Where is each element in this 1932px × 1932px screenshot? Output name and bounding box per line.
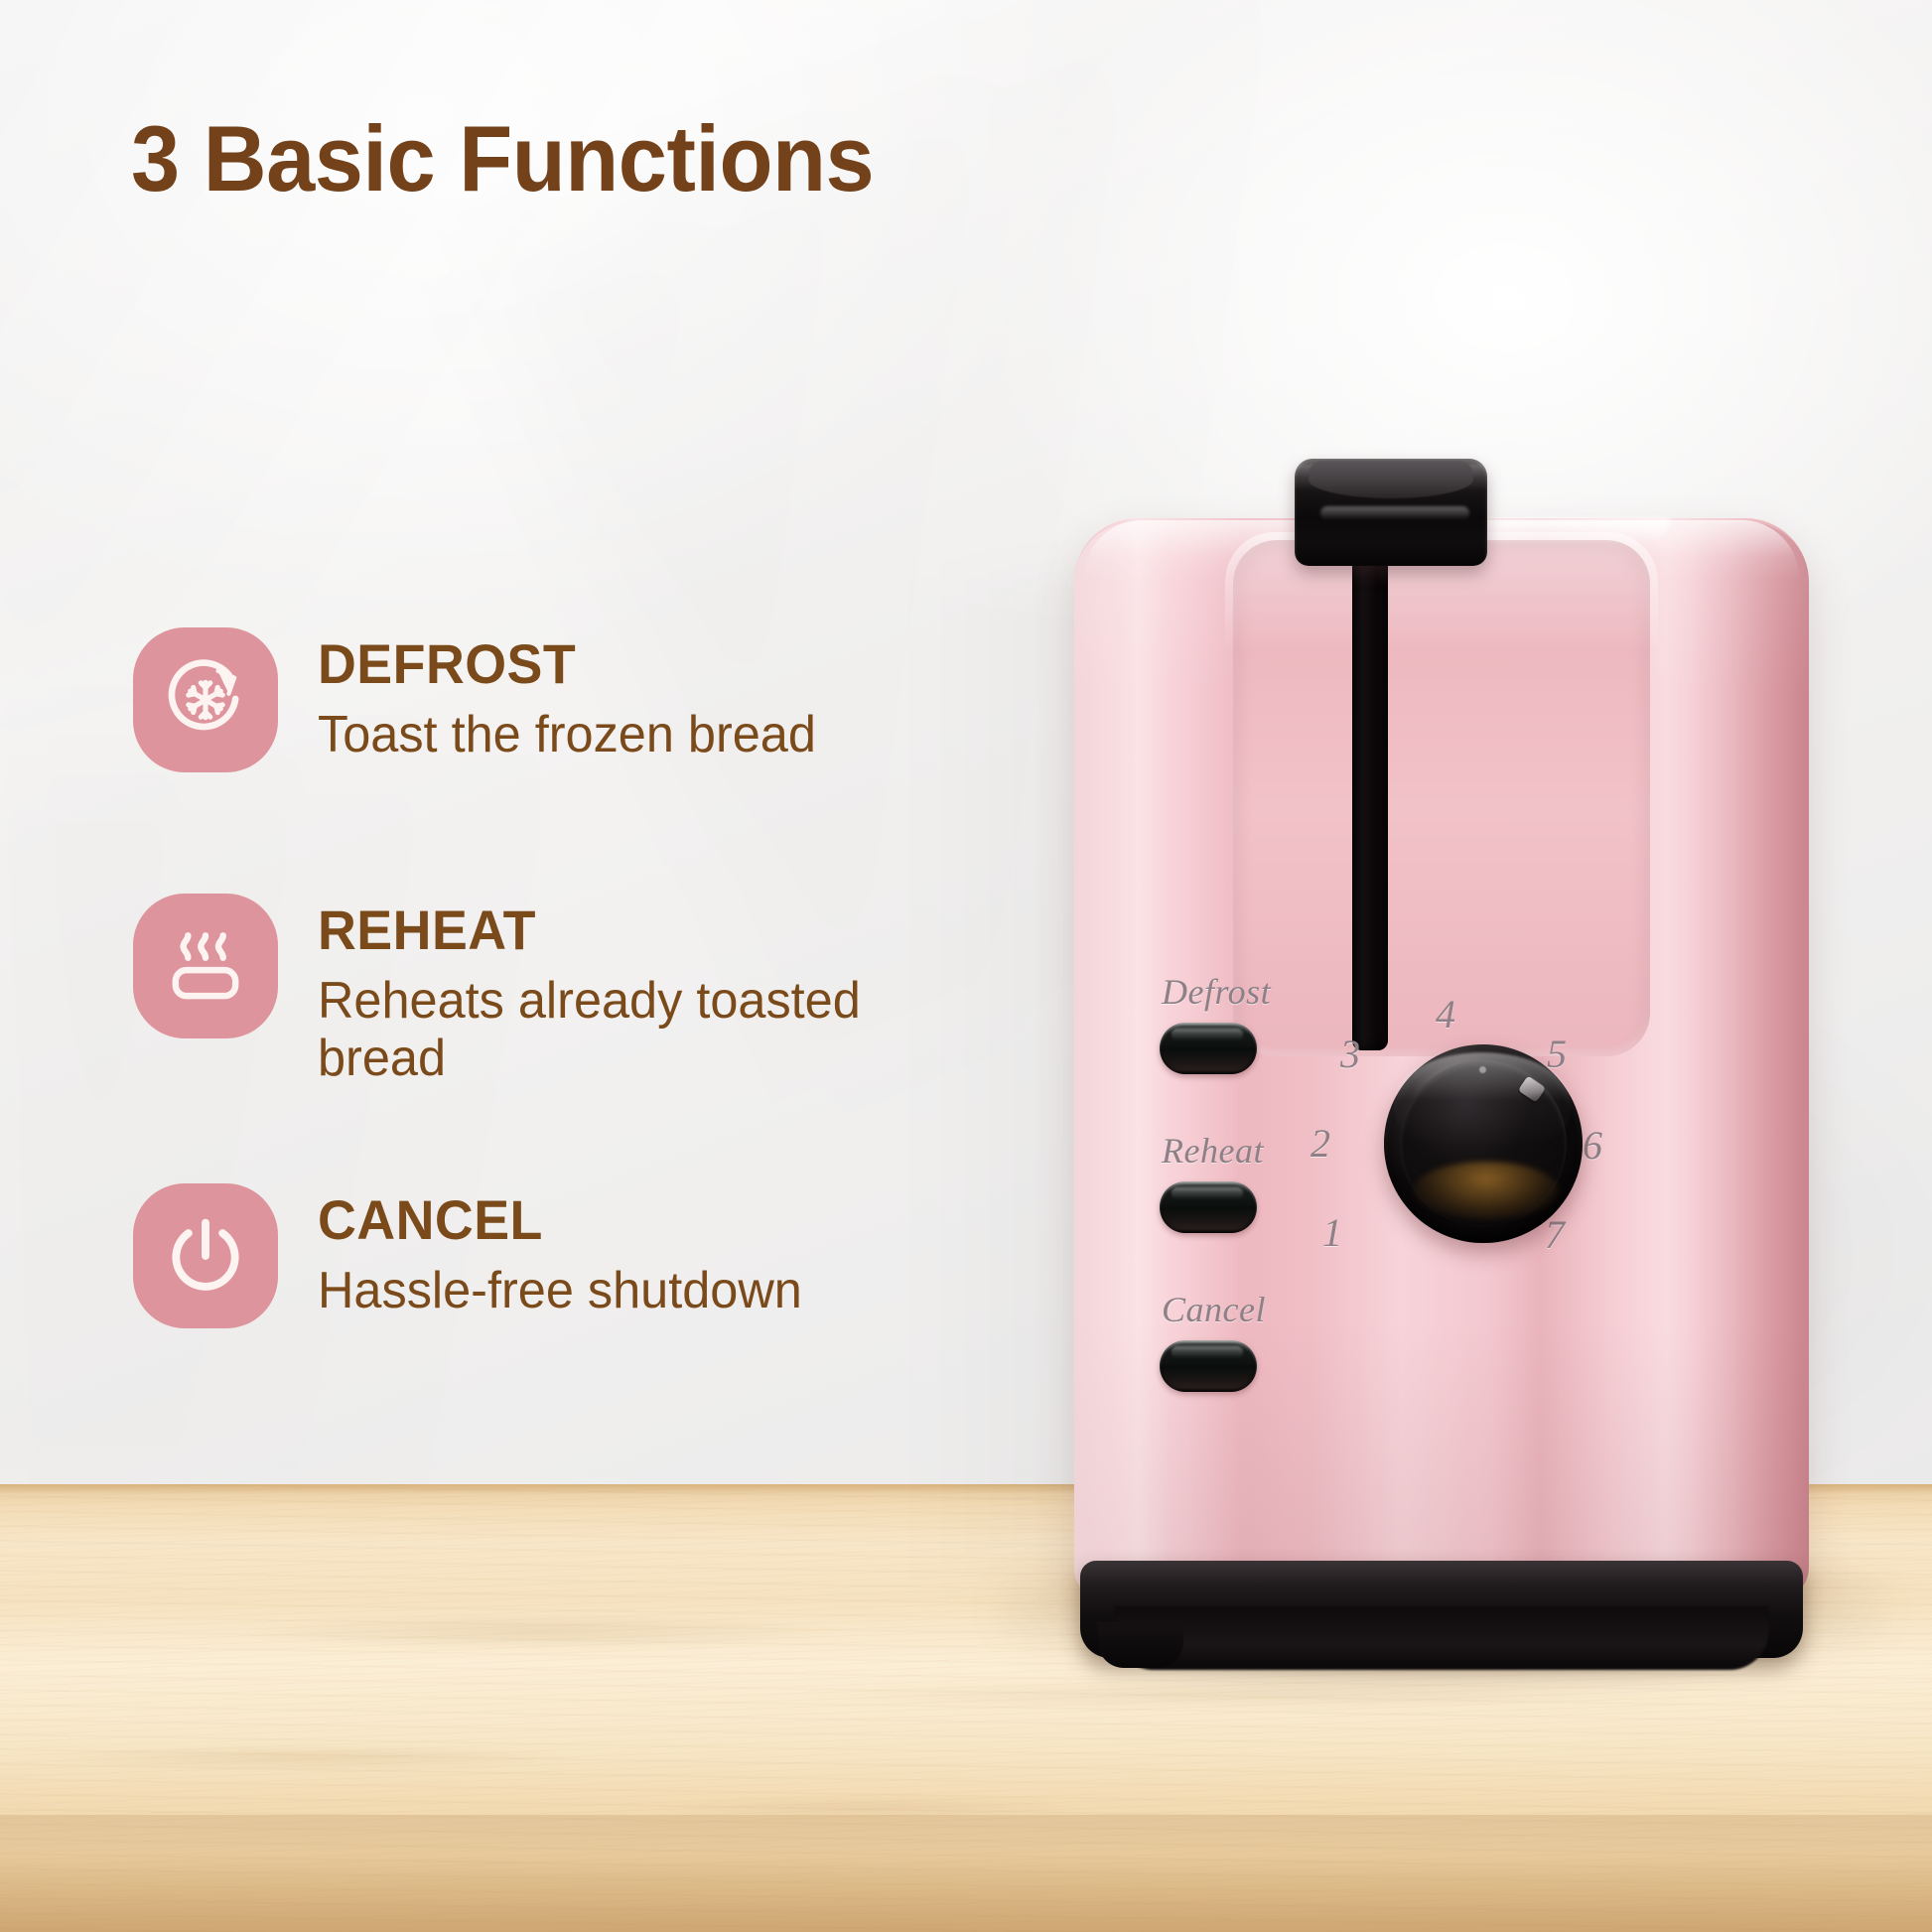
defrost-snowflake-rotate-icon (133, 627, 278, 772)
feature-title-cancel: CANCEL (318, 1191, 797, 1248)
feature-item-reheat: REHEAT Reheats already toasted bread (133, 894, 973, 1088)
feature-description-reheat: Reheats already toasted bread (318, 972, 953, 1087)
feature-title-reheat: REHEAT (318, 901, 947, 958)
feature-text-cancel: CANCEL Hassle-free shutdown (318, 1183, 817, 1319)
feature-description-defrost: Toast the frozen bread (318, 706, 816, 763)
feature-description-cancel: Hassle-free shutdown (318, 1262, 802, 1319)
page-title: 3 Basic Functions (131, 105, 874, 212)
feature-text-reheat: REHEAT Reheats already toasted bread (318, 894, 973, 1088)
feature-item-cancel: CANCEL Hassle-free shutdown (133, 1183, 817, 1328)
reheat-steam-bread-icon (133, 894, 278, 1038)
feature-item-defrost: DEFROST Toast the frozen bread (133, 627, 831, 772)
feature-title-defrost: DEFROST (318, 635, 811, 692)
infographic-content: 3 Basic Functions DEFRO (0, 0, 1932, 1932)
feature-text-defrost: DEFROST Toast the frozen bread (318, 627, 831, 763)
cancel-power-icon (133, 1183, 278, 1328)
